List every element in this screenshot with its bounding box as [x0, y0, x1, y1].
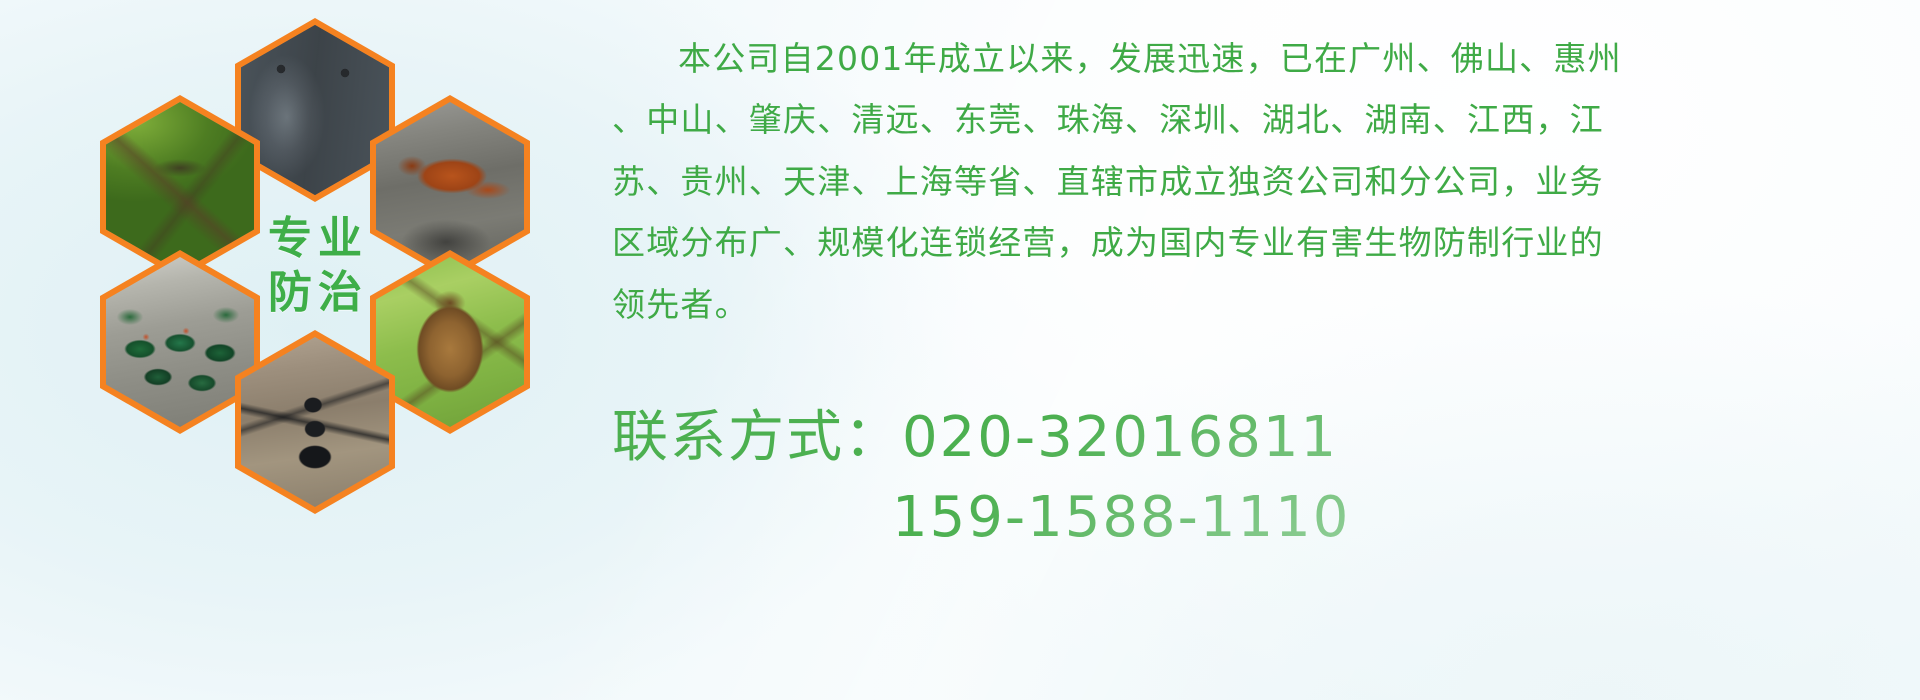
- hex-badge-line1: 专业: [262, 212, 368, 266]
- hex-badge-line2: 防治: [262, 266, 368, 320]
- hex-cell-rat-image: [241, 25, 389, 195]
- cockroach-photo: [376, 102, 524, 272]
- fly-photo: [106, 257, 254, 427]
- mosquito-photo: [106, 102, 254, 272]
- intro-line-1: 本公司自2001年成立以来，发展迅速，已在广州、佛山、惠州: [612, 34, 1912, 84]
- hex-cell-ant-image: [241, 337, 389, 507]
- company-intro-paragraph: 本公司自2001年成立以来，发展迅速，已在广州、佛山、惠州 、中山、肇庆、清远、…: [612, 34, 1912, 341]
- hexagon-photo-cluster: 专业 防治: [95, 0, 595, 570]
- intro-line-2: 、中山、肇庆、清远、东莞、珠海、深圳、湖北、湖南、江西，江: [612, 95, 1912, 145]
- intro-line-4: 区域分布广、规模化连锁经营，成为国内专业有害生物防制行业的: [612, 218, 1912, 268]
- intro-line-3: 苏、贵州、天津、上海等省、直辖市成立独资公司和分公司，业务: [612, 157, 1912, 207]
- intro-line-5: 领先者。: [612, 280, 1912, 330]
- ant-photo: [241, 337, 389, 507]
- hex-cell-stinkbug-image: [376, 257, 524, 427]
- hex-cell-fly-image: [106, 257, 254, 427]
- stinkbug-photo: [376, 257, 524, 427]
- hex-cell-cockroach-image: [376, 102, 524, 272]
- contact-mobile-row[interactable]: 159-1588-1110: [612, 478, 1912, 558]
- contact-landline-row[interactable]: 联系方式：020-32016811: [612, 398, 1912, 478]
- contact-block: 联系方式：020-32016811 159-1588-1110: [612, 398, 1912, 557]
- hex-center-badge: 专业 防治: [235, 174, 395, 358]
- rat-photo: [241, 25, 389, 195]
- hex-cell-mosquito-image: [106, 102, 254, 272]
- promo-banner: 专业 防治 本公司自2001年成立以来，发展迅速，已在广州、佛山、惠州 、中山、…: [0, 0, 1920, 700]
